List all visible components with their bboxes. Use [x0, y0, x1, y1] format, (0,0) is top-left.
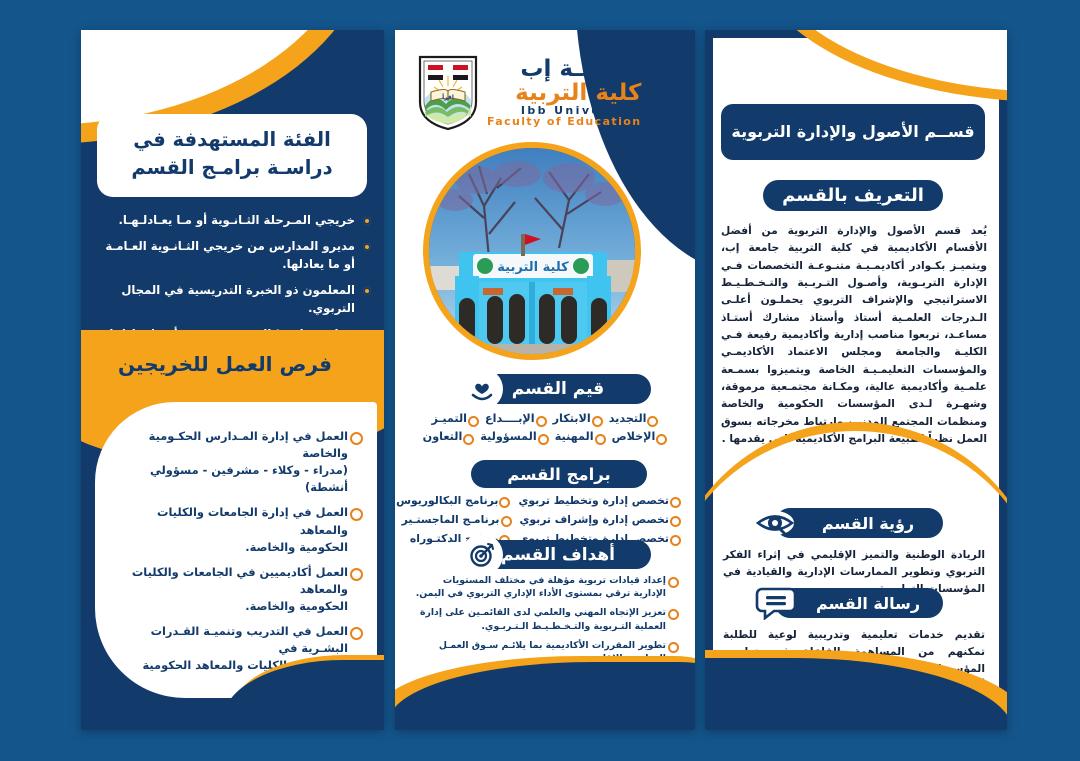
programs-title-pill: برامج القسم [471, 460, 647, 488]
program-spec: تخصص إدارة وإشراف تربوي [520, 513, 682, 526]
job-line-2: (مدراء - وكلاء - مشرفين - مسؤولي أنشطة) [107, 462, 348, 496]
job-line-1: العمل في التدريب وتنميـة القـدرات البشـر… [107, 623, 348, 657]
values-title-pill: قيم القسم [465, 374, 651, 404]
program-row: برنامج البكالوريوس تخصص إدارة وتخطيط ترب… [409, 494, 681, 507]
ibb-university-shield-icon: اقرأ [417, 54, 479, 132]
value-item: التميـز [432, 412, 479, 425]
list-item: مديرو المدارس من خريجي الثـانـوية العـام… [95, 238, 371, 273]
program-name: برنامـج الماجستـير [402, 513, 512, 526]
logo-text-block: جامـعـة إب كلية التربية Ibb University F… [487, 58, 641, 127]
list-item: تعزيز الإتجاه المهني والعلمي لدى القائمـ… [411, 606, 679, 632]
values-row-1: التميـز الإبــــداع الابتكار التجديد [409, 412, 681, 425]
faculty-name-ar: كلية التربية [487, 82, 641, 105]
job-line-1: العمل أكاديميين في الجامعات والكليات وال… [107, 564, 348, 598]
target-icon [461, 534, 503, 576]
svg-text:اقرأ: اقرأ [442, 93, 454, 101]
goals-title-pill: أهداف القسم [465, 540, 651, 569]
value-item: التجديد [609, 412, 659, 425]
eye-icon [753, 505, 797, 541]
job-line-2: الحكومية والخاصة. [107, 539, 348, 556]
list-item: إعداد قيادات تربوية مؤهلة في مختلف المست… [411, 574, 679, 600]
gate-photo-illustration: كلية التربية [429, 148, 635, 354]
mission-title-pill: رسالة القسم [775, 588, 943, 618]
value-item: الابتكار [553, 412, 603, 425]
university-logo-block: اقرأ جامـعـة إب كلية التربية Ibb Univers… [417, 44, 677, 142]
value-item: الإخلاص [612, 430, 668, 443]
middle-panel: اقرأ جامـعـة إب كلية التربية Ibb Univers… [395, 30, 695, 730]
program-spec: تخصص إدارة وتخطيط تربوي [518, 494, 681, 507]
vision-title: رؤية القسم [804, 514, 914, 533]
right-panel: قســم الأصول والإدارة التربوية التعريف ب… [705, 30, 1007, 730]
left-panel: الفئة المستهدفة في دراسـة برامـج القسم خ… [81, 30, 384, 730]
program-row: برنامـج الماجستـير تخصص إدارة وإشراف ترب… [409, 513, 681, 526]
faculty-name-en: Faculty of Education [487, 116, 641, 127]
job-line-1: العمل في إدارة الجامعات والكليات والمعاه… [107, 504, 348, 538]
mission-title: رسالة القسم [798, 594, 920, 613]
value-item: الإبــــداع [485, 412, 547, 425]
university-name-ar: جامـعـة إب [487, 58, 641, 81]
values-list: التميـز الإبــــداع الابتكار التجديد الت… [409, 412, 681, 448]
brochure-canvas: الفئة المستهدفة في دراسـة برامـج القسم خ… [0, 0, 1080, 761]
jobs-section-title: فرص العمل للخريجين [81, 352, 369, 376]
department-title: قســم الأصول والإدارة التربوية [731, 122, 974, 143]
job-line-1: العمل في إدارة المـدارس الحكـومية والخاص… [107, 428, 348, 462]
list-item: خريجي المـرحلة الثـانـوية أو مـا يعـادلـ… [95, 212, 371, 229]
list-item: العمل في إدارة الجامعات والكليات والمعاه… [107, 504, 363, 555]
svg-text:كلية التربية: كلية التربية [497, 260, 569, 275]
intro-paragraph: يُعد قسم الأصول والإدارة التربوية من أفض… [721, 222, 987, 447]
left-panel-title: الفئة المستهدفة في دراسـة برامـج القسم [111, 126, 353, 183]
value-item: المهنية [555, 430, 606, 443]
list-item: العمل أكاديميين في الجامعات والكليات وال… [107, 564, 363, 615]
value-item: التعاون [423, 430, 475, 443]
intro-title: التعريف بالقسم [782, 185, 924, 206]
list-item: المعلمون ذو الخبرة التدريسية في المجال ا… [95, 282, 371, 317]
left-title-card: الفئة المستهدفة في دراسـة برامـج القسم [97, 114, 367, 197]
faculty-gate-photo: كلية التربية [423, 142, 641, 360]
value-item: المسؤولية [480, 430, 548, 443]
vision-title-pill: رؤية القسم [775, 508, 943, 538]
values-row-2: التعاون المسؤولية المهنية الإخلاص [409, 430, 681, 443]
intro-title-pill: التعريف بالقسم [763, 180, 943, 211]
program-name: برنامج البكالوريوس [396, 494, 510, 507]
department-title-card: قســم الأصول والإدارة التربوية [721, 104, 985, 160]
speech-bubble-icon [753, 585, 797, 621]
heart-hand-icon [461, 368, 503, 410]
list-item: العمل في إدارة المـدارس الحكـومية والخاص… [107, 428, 363, 496]
job-line-2: الحكومية والخاصة. [107, 598, 348, 615]
programs-title: برامج القسم [471, 465, 647, 484]
